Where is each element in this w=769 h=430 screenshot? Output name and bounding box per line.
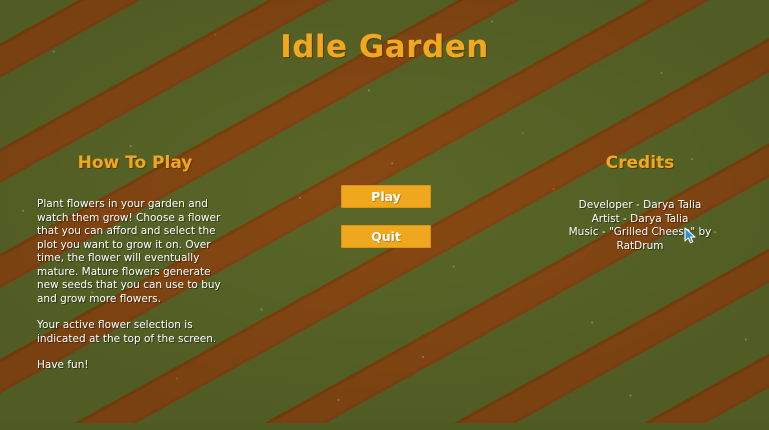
menu-content-layer: Idle Garden How To Play Plant flowers in… <box>0 0 769 430</box>
credits-line-developer: Developer - Darya Talia <box>545 199 735 213</box>
quit-button[interactable]: Quit <box>341 225 431 248</box>
how-to-play-paragraph: Plant flowers in your garden and watch t… <box>37 198 229 306</box>
credits-heading: Credits <box>560 153 720 173</box>
how-to-play-heading: How To Play <box>35 153 235 173</box>
how-to-play-text: Plant flowers in your garden and watch t… <box>37 198 229 373</box>
how-to-play-paragraph: Your active flower selection is indicate… <box>37 319 229 346</box>
game-title: Idle Garden <box>0 29 769 65</box>
game-menu-screen: Idle Garden How To Play Plant flowers in… <box>0 0 769 430</box>
credits-line-music: Music - "Grilled Cheese" by RatDrum <box>545 226 735 253</box>
credits-text: Developer - Darya Talia Artist - Darya T… <box>545 199 735 253</box>
play-button[interactable]: Play <box>341 185 431 208</box>
how-to-play-paragraph: Have fun! <box>37 359 229 373</box>
credits-line-artist: Artist - Darya Talia <box>545 213 735 227</box>
